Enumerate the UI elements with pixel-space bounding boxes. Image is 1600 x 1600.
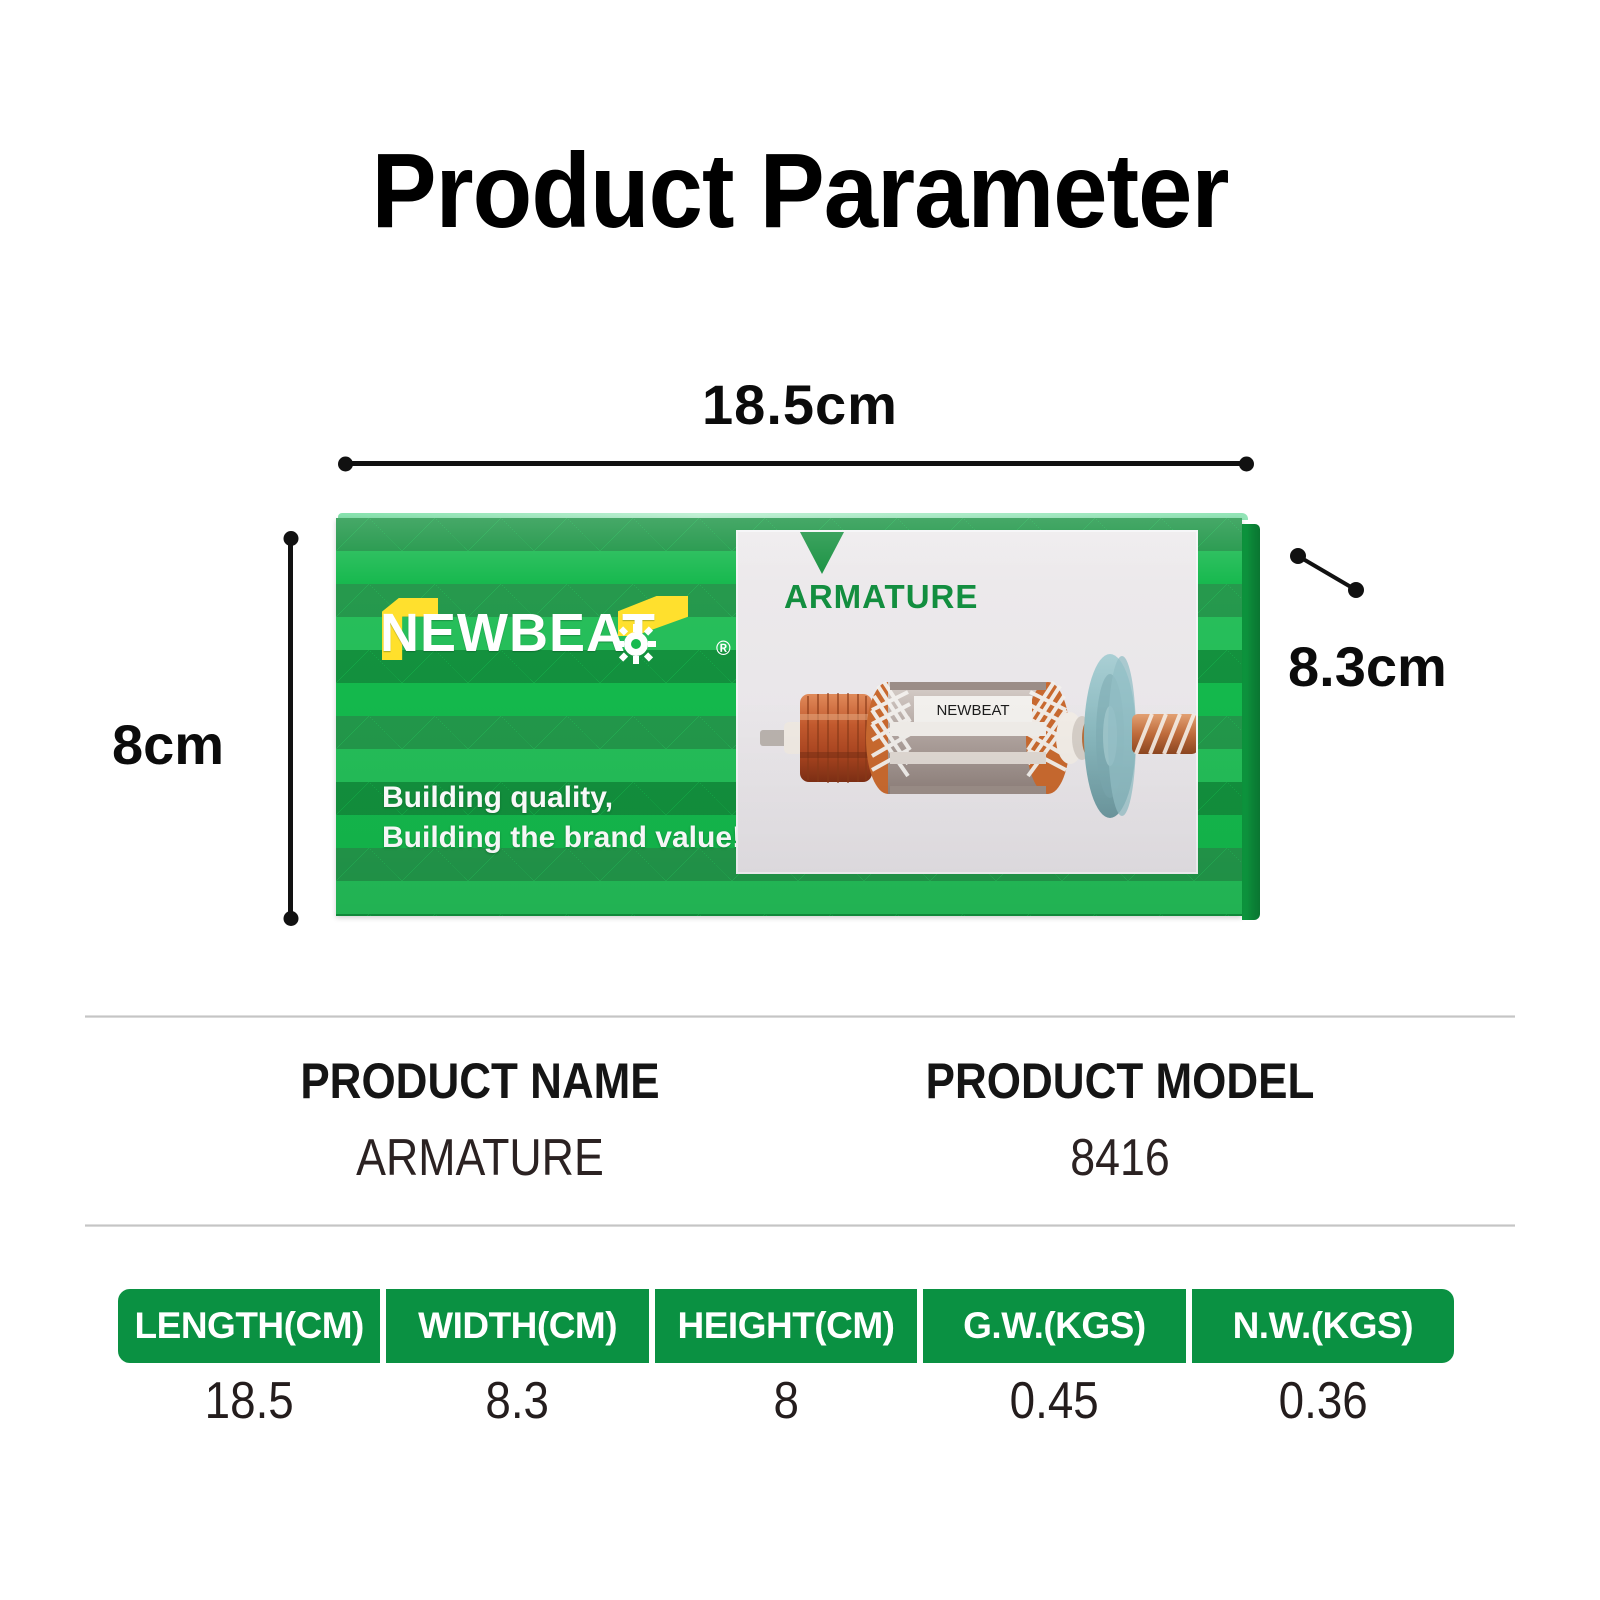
box-front-face: NEWBEAT ® — [336, 518, 1242, 916]
product-name-column: PRODUCT NAME ARMATURE — [170, 1052, 790, 1188]
spec-value-net-weight: 0.36 — [1207, 1371, 1438, 1431]
spec-header-height: HEIGHT(CM) — [655, 1289, 917, 1363]
section-divider-bottom — [85, 1224, 1515, 1227]
dimension-label-width: 8.3cm — [1288, 634, 1447, 699]
spec-value-gross-weight: 0.45 — [939, 1371, 1170, 1431]
product-package-box: NEWBEAT ® — [336, 518, 1260, 922]
product-parameter-page: Product Parameter 18.5cm 8cm 8.3cm NEWBE… — [0, 0, 1600, 1600]
product-name-value: ARMATURE — [213, 1128, 746, 1188]
dimension-label-length: 18.5cm — [0, 372, 1600, 437]
spec-value-length: 18.5 — [134, 1371, 365, 1431]
product-model-header: PRODUCT MODEL — [838, 1052, 1401, 1110]
dimension-line-horizontal — [342, 461, 1250, 466]
dimension-label-height: 8cm — [112, 712, 224, 777]
product-model-value: 8416 — [845, 1128, 1395, 1188]
dimension-line-diagonal — [1290, 548, 1390, 600]
spec-header-net-weight: N.W.(KGS) — [1192, 1289, 1454, 1363]
spec-header-width: WIDTH(CM) — [386, 1289, 648, 1363]
box-gloss-overlay — [336, 518, 1242, 916]
dimension-line-vertical — [288, 536, 293, 921]
spec-value-width: 8.3 — [402, 1371, 633, 1431]
spec-table-value-row: 18.5 8.3 8 0.45 0.36 — [118, 1371, 1454, 1431]
spec-value-height: 8 — [671, 1371, 902, 1431]
spec-header-length: LENGTH(CM) — [118, 1289, 380, 1363]
spec-header-gross-weight: G.W.(KGS) — [923, 1289, 1185, 1363]
product-name-header: PRODUCT NAME — [207, 1052, 753, 1110]
box-side-panel — [1242, 524, 1260, 920]
page-title: Product Parameter — [64, 138, 1536, 244]
spec-table: LENGTH(CM) WIDTH(CM) HEIGHT(CM) G.W.(KGS… — [118, 1289, 1454, 1431]
section-divider-top — [85, 1015, 1515, 1018]
product-model-column: PRODUCT MODEL 8416 — [800, 1052, 1440, 1188]
spec-table-header-row: LENGTH(CM) WIDTH(CM) HEIGHT(CM) G.W.(KGS… — [118, 1289, 1454, 1363]
